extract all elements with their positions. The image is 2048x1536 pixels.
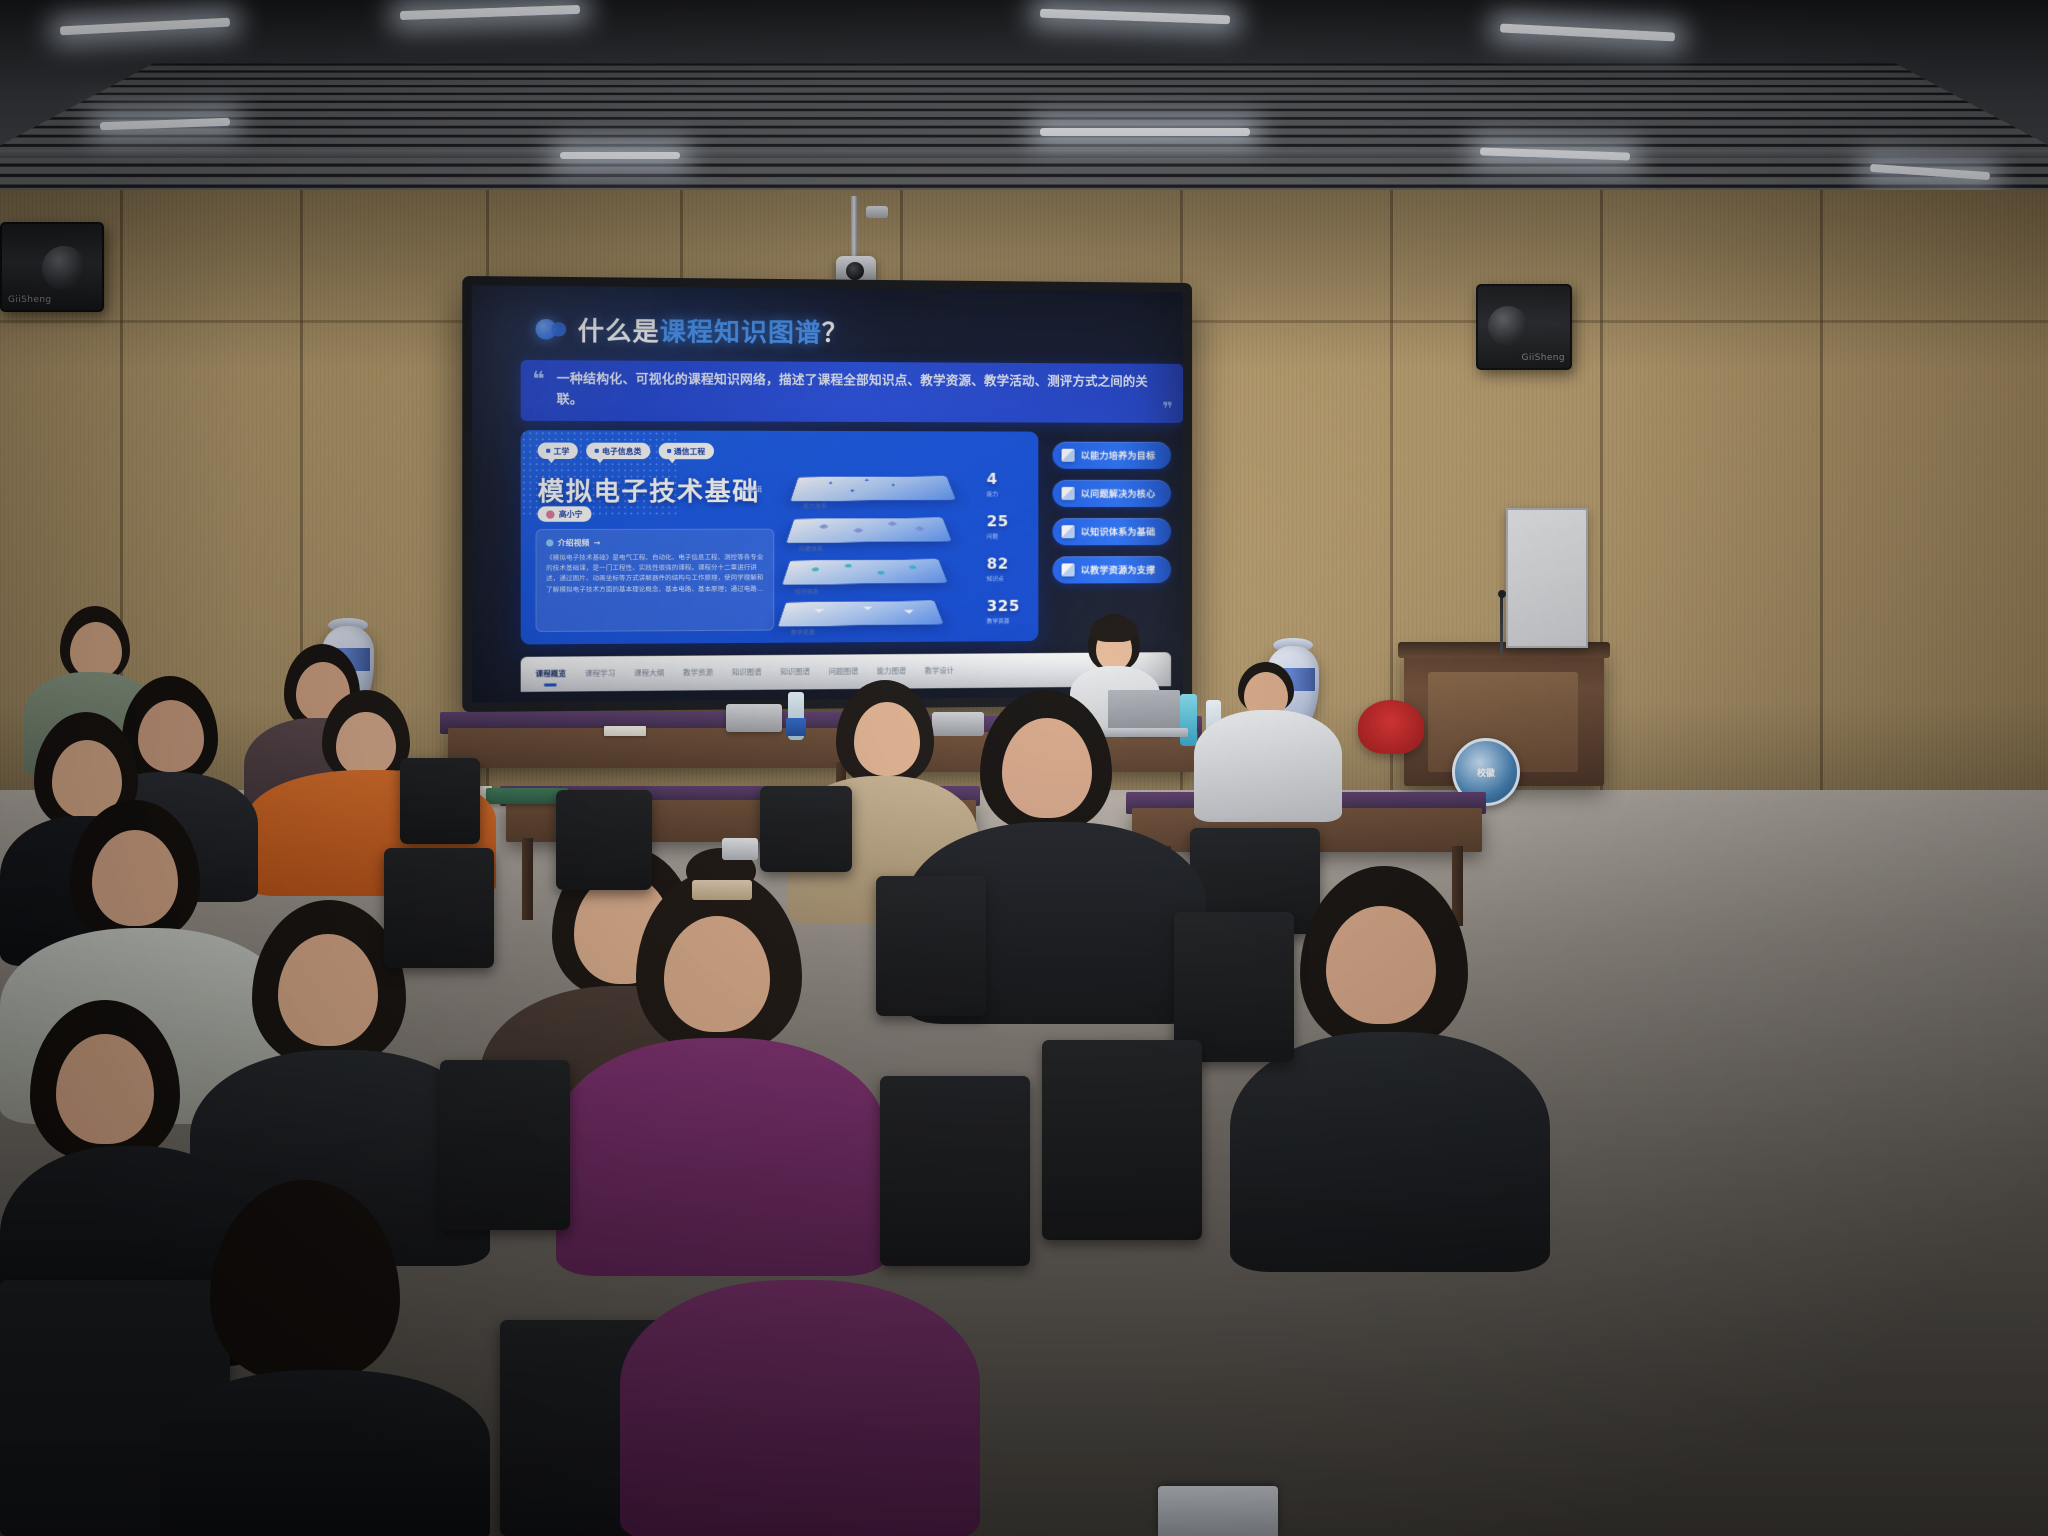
slide-title-text: 什么是课程知识图谱？ [578,311,849,350]
course-tag[interactable]: 工学 [538,442,578,459]
course-tag[interactable]: 通信工程 [658,443,713,459]
torso [620,1280,980,1536]
layer-count: 25 问题 [987,514,1009,540]
chair [760,786,852,872]
chair [880,1076,1030,1266]
pill-label: 以知识体系为基础 [1081,525,1156,538]
edit-label: 编辑 [747,484,763,495]
document-icon [1062,525,1075,538]
hair-front [1090,616,1138,642]
chair [556,790,652,890]
pill-label: 以教学资源为支撑 [1081,563,1156,576]
slide-quote-banner: ❝ ❞ 一种结构化、可视化的课程知识网络，描述了课程全部知识点、教学资源、教学活… [521,360,1183,423]
layer-plane [782,559,947,585]
knowledge-layer-stack: ✦ ✦ ✦ ✦ 能力体系 问题体系 [780,465,975,636]
ceiling [0,0,2048,200]
tag-square-icon [595,449,599,453]
audience-member [556,870,886,1270]
count-value: 4 [987,472,998,487]
count-value: 325 [987,599,1020,614]
wall-speaker-right: GiiSheng [1476,284,1572,370]
layer-count: 82 知识点 [987,557,1009,583]
count-label: 知识点 [987,575,1009,583]
circle-icon [845,564,852,568]
pill-label: 以能力培养为目标 [1081,449,1156,462]
course-description-text: 《模拟电子技术基础》是电气工程、自动化、电子信息工程、测控等各专业的技术基础课，… [546,553,764,596]
torso [556,1038,886,1276]
count-label: 能力 [987,490,998,498]
equipment-box [726,704,782,732]
ceiling-beam [0,150,2048,158]
nav-tab[interactable]: 课程概览 [536,669,566,680]
audience-member-right-table [1192,662,1342,822]
course-description-header[interactable]: 介绍视频 → [546,537,764,549]
video-icon [546,539,553,546]
camera-mount-rod [851,196,857,258]
title-suffix: ？ [822,318,849,348]
podium-microphone [1500,596,1503,654]
tag-label: 电子信息类 [602,445,641,456]
phone-device[interactable] [722,838,758,860]
ceiling-light [560,152,680,159]
course-edit-button[interactable]: ✎ 编辑 [738,484,762,495]
course-card: 工学 电子信息类 通信工程 模拟电子技术基础 ✎ 编辑 [521,430,1039,644]
tag-label: 工学 [553,445,569,456]
head [56,1034,154,1144]
layer-label: 教学资源 [791,628,815,636]
circle-icon [909,565,917,569]
hair-clip [692,880,752,900]
document-icon [1062,563,1075,576]
circle-icon [811,567,819,571]
principle-pill-list: 以能力培养为目标 以问题解决为核心 以知识体系为基础 以教学资源为支撑 [1052,442,1171,595]
layer-count: 4 能力 [987,472,998,498]
torso [1194,710,1342,822]
layer-count: 325 教学资源 [987,599,1020,625]
count-label: 问题 [987,532,1009,540]
principle-pill[interactable]: 以知识体系为基础 [1052,518,1171,545]
diamond-icon [853,528,863,533]
red-ribbon-decoration [1358,700,1424,754]
tag-square-icon [667,449,671,453]
nav-tab[interactable]: 课程大纲 [634,668,664,678]
nav-tab[interactable]: 能力图谱 [877,666,906,676]
nav-tab[interactable]: 课程学习 [585,669,615,680]
speaker-cone [1488,306,1528,346]
course-tag-row: 工学 电子信息类 通信工程 [538,442,714,459]
camera-mount-base [866,206,888,218]
tablet-device[interactable] [1158,1486,1278,1536]
course-description-box: 介绍视频 → 《模拟电子技术基础》是电气工程、自动化、电子信息工程、测控等各专业… [536,529,775,632]
ceiling-light [1040,128,1250,136]
head [1002,718,1092,818]
nav-tab[interactable]: 知识图谱 [732,667,762,677]
quote-close-icon: ❞ [1162,401,1173,419]
layer-plane [786,518,951,543]
audience-member [620,1280,980,1536]
sparkle-icon: ✦ [826,481,834,486]
head [336,712,396,776]
course-teacher-badge: 高小宁 [538,506,591,521]
slide-title: 什么是课程知识图谱？ [536,311,849,350]
course-tag[interactable]: 电子信息类 [586,443,650,460]
head [278,934,378,1046]
ceiling-shadow [0,0,2048,86]
speaker-brand-label: GiiSheng [8,295,52,305]
side-whiteboard [1506,508,1588,648]
hair [210,1180,400,1380]
torso [1230,1032,1550,1272]
speaker-brand-label: GiiSheng [1521,353,1565,363]
head [70,622,122,678]
pill-label: 以问题解决为核心 [1081,487,1156,500]
nav-tab[interactable]: 教学设计 [925,666,954,676]
lecture-hall-photo: GiiSheng GiiSheng 什么是课程知识图谱？ ❝ ❞ 一种结构化、可… [0,0,2048,1536]
chair [1042,1040,1202,1240]
microphone-head-icon [1498,590,1506,598]
title-prefix: 什么是 [578,316,660,346]
sparkle-icon: ✦ [848,489,856,494]
layer-label: 能力体系 [803,502,827,510]
principle-pill[interactable]: 以能力培养为目标 [1052,442,1171,469]
document-icon [1062,449,1075,462]
speaker-cone [42,246,86,290]
desc-header-label: 介绍视频 [558,537,590,548]
layer-plane: ✦ ✦ ✦ ✦ [791,476,956,501]
triangle-icon [903,610,914,614]
teacher-name: 高小宁 [559,508,583,519]
diamond-icon [887,521,897,526]
count-value: 82 [987,557,1009,572]
tag-label: 通信工程 [674,445,705,456]
nav-tab[interactable]: 知识图谱 [780,667,810,677]
pencil-icon: ✎ [738,485,745,494]
diamond-icon [915,526,925,531]
layer-plane [778,601,943,627]
tag-square-icon [546,449,550,453]
diamond-icon [819,524,829,529]
title-highlight: 课程知识图谱 [660,317,822,348]
sparkle-icon: ✦ [889,483,897,488]
sparkle-icon: ✦ [863,479,871,484]
triangle-icon [814,609,825,613]
head [1326,906,1436,1024]
layer-label: 知识体系 [795,588,819,596]
circle-icon [877,571,885,575]
nav-tab[interactable]: 教学资源 [683,668,713,678]
document-icon [1062,487,1075,500]
layer-label: 问题体系 [799,545,823,553]
head [92,830,178,926]
arrow-right-icon: → [594,538,601,547]
title-bullet-secondary-icon [551,322,566,337]
principle-pill[interactable]: 以教学资源为支撑 [1052,556,1171,584]
slide-quote-text: 一种结构化、可视化的课程知识网络，描述了课程全部知识点、教学资源、教学活动、测评… [557,369,1169,412]
document-on-table [604,726,646,736]
chair [876,876,986,1016]
count-label: 教学资源 [987,617,1020,625]
nav-tab[interactable]: 问题图谱 [829,667,859,677]
head [664,916,770,1032]
triangle-icon [863,606,873,610]
camera-lens-icon [846,262,864,280]
avatar [546,510,554,518]
chair [384,848,494,968]
principle-pill[interactable]: 以问题解决为核心 [1052,480,1171,507]
torso [160,1370,490,1536]
chair [400,758,480,844]
wall-speaker-left: GiiSheng [0,222,104,312]
quote-open-icon: ❝ [532,368,544,389]
course-title: 模拟电子技术基础 [538,471,760,508]
count-value: 25 [987,514,1009,529]
audience-member [160,1180,490,1536]
